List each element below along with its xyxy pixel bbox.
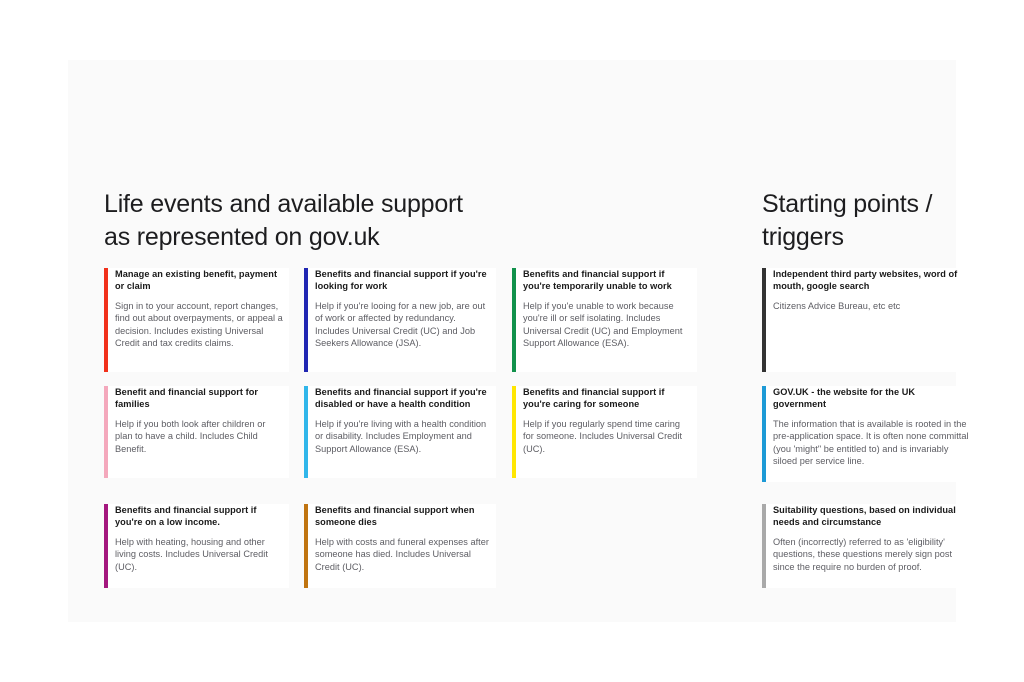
card-grid: Manage an existing benefit, payment or c… bbox=[104, 268, 976, 604]
card-title: Benefits and financial support if you're… bbox=[315, 386, 490, 411]
card-body: Benefits and financial support if you're… bbox=[115, 504, 289, 573]
accent-bar bbox=[304, 504, 308, 588]
diagram-canvas: Life events and available support as rep… bbox=[0, 0, 1024, 682]
card-low-income[interactable]: Benefits and financial support if you're… bbox=[104, 504, 289, 588]
card-body: Suitability questions, based on individu… bbox=[773, 504, 976, 573]
accent-bar bbox=[304, 268, 308, 372]
accent-bar bbox=[104, 504, 108, 588]
card-support-for-families[interactable]: Benefit and financial support for famili… bbox=[104, 386, 289, 478]
card-body: Manage an existing benefit, payment or c… bbox=[115, 268, 289, 349]
card-manage-existing-benefit[interactable]: Manage an existing benefit, payment or c… bbox=[104, 268, 289, 372]
card-description: Citizens Advice Bureau, etc etc bbox=[773, 300, 970, 312]
card-row-1: Manage an existing benefit, payment or c… bbox=[104, 268, 976, 386]
accent-bar bbox=[762, 386, 766, 482]
card-title: Benefits and financial support if you're… bbox=[523, 386, 691, 411]
card-row-2: Benefit and financial support for famili… bbox=[104, 386, 976, 504]
card-looking-for-work[interactable]: Benefits and financial support if you're… bbox=[304, 268, 496, 372]
card-title: Benefits and financial support if you're… bbox=[115, 504, 283, 529]
accent-bar bbox=[304, 386, 308, 478]
card-body: GOV.UK - the website for the UK governme… bbox=[773, 386, 976, 467]
card-description: Help if you regularly spend time caring … bbox=[523, 418, 691, 455]
card-title: Independent third party websites, word o… bbox=[773, 268, 970, 293]
card-description: Help if you're looing for a new job, are… bbox=[315, 300, 490, 350]
card-description: The information that is available is roo… bbox=[773, 418, 970, 468]
card-body: Benefits and financial support if you're… bbox=[315, 386, 496, 455]
accent-bar bbox=[762, 268, 766, 372]
accent-bar bbox=[512, 386, 516, 478]
card-body: Benefits and financial support if you're… bbox=[315, 268, 496, 349]
section-title-right: Starting points / triggers bbox=[762, 188, 972, 254]
card-body: Benefits and financial support if you're… bbox=[523, 386, 697, 455]
card-title: Benefits and financial support if you're… bbox=[315, 268, 490, 293]
card-title: Benefit and financial support for famili… bbox=[115, 386, 283, 411]
section-title-left: Life events and available support as rep… bbox=[104, 188, 574, 254]
accent-bar bbox=[512, 268, 516, 372]
card-title: Benefits and financial support if you're… bbox=[523, 268, 691, 293]
accent-bar bbox=[762, 504, 766, 588]
card-description: Sign in to your account, report changes,… bbox=[115, 300, 283, 350]
card-suitability-questions[interactable]: Suitability questions, based on individu… bbox=[762, 504, 976, 588]
card-description: Help with costs and funeral expenses aft… bbox=[315, 536, 490, 573]
card-body: Benefits and financial support if you're… bbox=[523, 268, 697, 349]
card-temporarily-unable-to-work[interactable]: Benefits and financial support if you're… bbox=[512, 268, 697, 372]
card-caring-for-someone[interactable]: Benefits and financial support if you're… bbox=[512, 386, 697, 478]
card-title: Suitability questions, based on individu… bbox=[773, 504, 970, 529]
card-title: GOV.UK - the website for the UK governme… bbox=[773, 386, 970, 411]
card-disabled-or-health-condition[interactable]: Benefits and financial support if you're… bbox=[304, 386, 496, 478]
diagram-board: Life events and available support as rep… bbox=[68, 60, 956, 622]
card-when-someone-dies[interactable]: Benefits and financial support when some… bbox=[304, 504, 496, 588]
card-description: Often (incorrectly) referred to as 'elig… bbox=[773, 536, 970, 573]
card-body: Independent third party websites, word o… bbox=[773, 268, 976, 312]
card-description: Help if you both look after children or … bbox=[115, 418, 283, 455]
card-body: Benefits and financial support when some… bbox=[315, 504, 496, 573]
accent-bar bbox=[104, 386, 108, 478]
accent-bar bbox=[104, 268, 108, 372]
card-description: Help with heating, housing and other liv… bbox=[115, 536, 283, 573]
card-body: Benefit and financial support for famili… bbox=[115, 386, 289, 455]
card-description: Help if you're living with a health cond… bbox=[315, 418, 490, 455]
card-title: Benefits and financial support when some… bbox=[315, 504, 490, 529]
card-title: Manage an existing benefit, payment or c… bbox=[115, 268, 283, 293]
card-independent-third-party-websites[interactable]: Independent third party websites, word o… bbox=[762, 268, 976, 372]
board-inner: Life events and available support as rep… bbox=[86, 60, 956, 622]
card-description: Help if you'e unable to work because you… bbox=[523, 300, 691, 350]
card-govuk-website[interactable]: GOV.UK - the website for the UK governme… bbox=[762, 386, 976, 482]
card-row-3: Benefits and financial support if you're… bbox=[104, 504, 976, 604]
